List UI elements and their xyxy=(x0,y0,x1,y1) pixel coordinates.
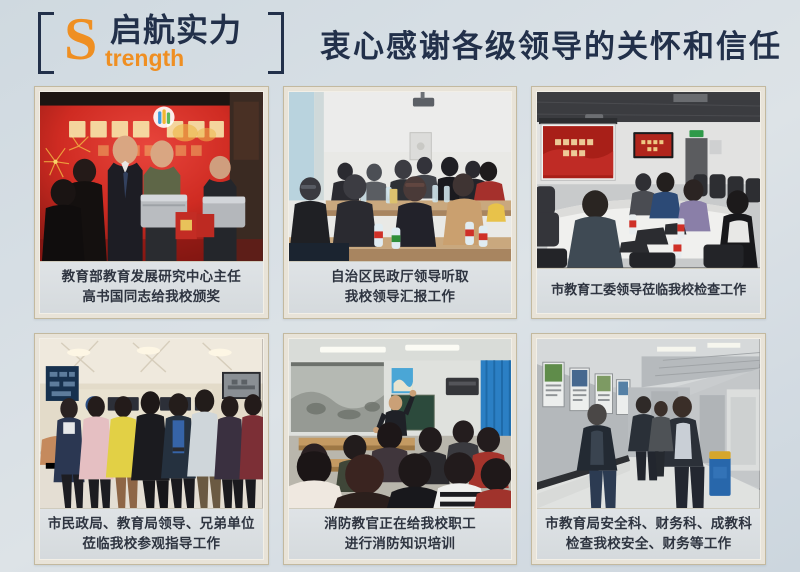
photo-group-visit xyxy=(40,339,263,508)
brand-name-en: trength xyxy=(105,47,184,70)
photo-gallery-grid: 教育部教育发展研究中心主任 高书国同志给我校颁奖 xyxy=(0,86,800,572)
photo-card-inner: 市民政局、教育局领导、兄弟单位 莅临我校参观指导工作 xyxy=(39,338,264,561)
photo-card-group-visit[interactable]: 市民政局、教育局领导、兄弟单位 莅临我校参观指导工作 xyxy=(34,333,269,566)
page-title: 衷心感谢各级领导的关怀和信任 xyxy=(320,21,782,66)
photo-card-inner: 教育部教育发展研究中心主任 高书国同志给我校颁奖 xyxy=(39,91,264,314)
poster-page: S 启航实力 trength 衷心感谢各级领导的关怀和信任 xyxy=(0,0,800,572)
photo-education-committee-inspection xyxy=(537,92,760,268)
page-header: S 启航实力 trength 衷心感谢各级领导的关怀和信任 xyxy=(0,0,800,86)
caption-line-2: 进行消防知识培训 xyxy=(293,534,508,554)
photo-civil-affairs-report xyxy=(289,92,512,261)
photo-card-award-ceremony[interactable]: 教育部教育发展研究中心主任 高书国同志给我校颁奖 xyxy=(34,86,269,319)
photo-card-fire-safety-training[interactable]: 消防教官正在给我校职工 进行消防知识培训 xyxy=(283,333,518,566)
caption-line-1: 市教育局安全科、财务科、成教科 xyxy=(541,514,756,534)
photo-caption: 市教育局安全科、财务科、成教科 检查我校安全、财务等工作 xyxy=(537,508,760,559)
caption-line-1: 教育部教育发展研究中心主任 xyxy=(44,267,259,287)
brand-logo: S 启航实力 trength xyxy=(38,12,284,74)
caption-line-1: 自治区民政厅领导听取 xyxy=(293,267,508,287)
caption-line-1: 消防教官正在给我校职工 xyxy=(293,514,508,534)
bracket-right-icon xyxy=(268,12,284,74)
photo-card-inner: 市教育局安全科、财务科、成教科 检查我校安全、财务等工作 xyxy=(536,338,761,561)
caption-line-2: 检查我校安全、财务等工作 xyxy=(541,534,756,554)
photo-card-education-committee-inspection[interactable]: 市教育工委领导莅临我校检查工作 xyxy=(531,86,766,319)
photo-caption: 消防教官正在给我校职工 进行消防知识培训 xyxy=(289,508,512,559)
photo-card-inner: 市教育工委领导莅临我校检查工作 xyxy=(536,91,761,314)
brand-name-cn: 启航实力 xyxy=(110,14,242,48)
photo-award-ceremony xyxy=(40,92,263,261)
caption-line-2: 高书国同志给我校颁奖 xyxy=(44,287,259,307)
brand-logo-inner: S 启航实力 trength xyxy=(62,14,258,72)
photo-card-civil-affairs-report[interactable]: 自治区民政厅领导听取 我校领导汇报工作 xyxy=(283,86,518,319)
photo-caption: 市民政局、教育局领导、兄弟单位 莅临我校参观指导工作 xyxy=(40,508,263,559)
photo-fire-safety-training xyxy=(289,339,512,508)
caption-line-1: 市民政局、教育局领导、兄弟单位 xyxy=(44,514,259,534)
caption-line-1: 市教育工委领导莅临我校检查工作 xyxy=(541,281,756,300)
brand-letter-mark: S xyxy=(64,9,97,69)
photo-caption: 市教育工委领导莅临我校检查工作 xyxy=(537,268,760,313)
caption-line-2: 我校领导汇报工作 xyxy=(293,287,508,307)
photo-card-corridor-inspection[interactable]: 市教育局安全科、财务科、成教科 检查我校安全、财务等工作 xyxy=(531,333,766,566)
photo-card-inner: 自治区民政厅领导听取 我校领导汇报工作 xyxy=(288,91,513,314)
caption-line-2: 莅临我校参观指导工作 xyxy=(44,534,259,554)
photo-caption: 自治区民政厅领导听取 我校领导汇报工作 xyxy=(289,261,512,312)
photo-card-inner: 消防教官正在给我校职工 进行消防知识培训 xyxy=(288,338,513,561)
photo-caption: 教育部教育发展研究中心主任 高书国同志给我校颁奖 xyxy=(40,261,263,312)
bracket-left-icon xyxy=(38,12,54,74)
photo-corridor-inspection xyxy=(537,339,760,508)
